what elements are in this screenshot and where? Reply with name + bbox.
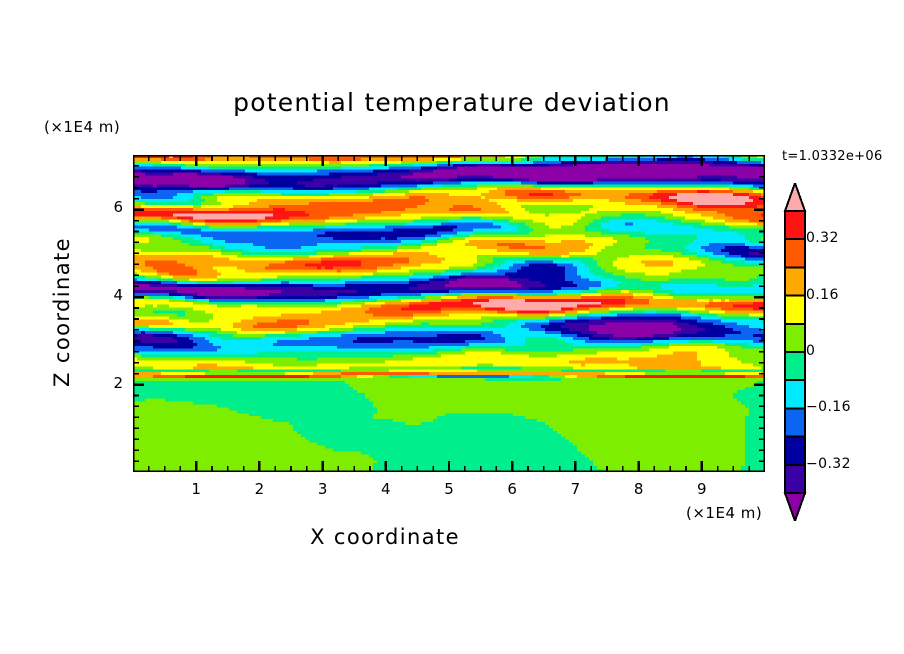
x-tick-label: 1 xyxy=(181,480,211,498)
x-tick-label: 9 xyxy=(687,480,717,498)
x-tick-label: 2 xyxy=(244,480,274,498)
x-tick-label: 4 xyxy=(371,480,401,498)
x-axis-title: X coordinate xyxy=(0,525,770,549)
y-tick-label: 6 xyxy=(99,198,123,216)
z-axis-unit-label: (×1E4 m) xyxy=(44,118,120,136)
page-title: potential temperature deviation xyxy=(0,88,904,117)
x-tick-label: 7 xyxy=(560,480,590,498)
timestamp-label: t=1.0332e+06 xyxy=(782,149,883,164)
colorbar-tick-label: 0 xyxy=(806,343,815,359)
x-tick-label: 8 xyxy=(624,480,654,498)
colorbar-tick-label: −0.16 xyxy=(806,399,851,415)
contour-canvas xyxy=(133,155,765,472)
x-axis-unit-label: (×1E4 m) xyxy=(686,504,762,522)
y-tick-label: 2 xyxy=(99,374,123,392)
colorbar-tick-label: −0.32 xyxy=(806,456,851,472)
y-tick-label: 4 xyxy=(99,286,123,304)
colorbar-tick-label: 0.16 xyxy=(806,287,839,303)
contour-plot xyxy=(133,155,765,472)
x-tick-label: 3 xyxy=(308,480,338,498)
x-tick-label: 6 xyxy=(497,480,527,498)
y-axis-title: Z coordinate xyxy=(50,202,74,422)
x-tick-label: 5 xyxy=(434,480,464,498)
colorbar-tick-label: 0.32 xyxy=(806,230,839,246)
